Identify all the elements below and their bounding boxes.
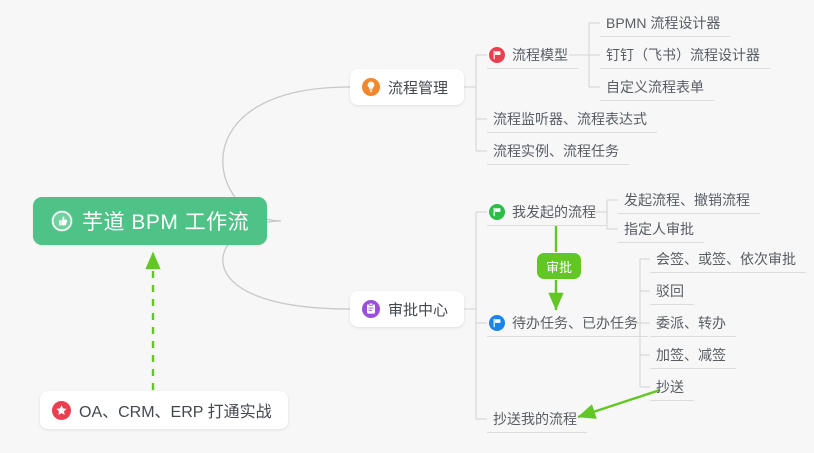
node-label: 钉钉（飞书）流程设计器	[606, 45, 760, 65]
node-label: 流程监听器、流程表达式	[493, 109, 647, 129]
node-label: OA、CRM、ERP 打通实战	[79, 398, 272, 422]
star-icon	[52, 401, 71, 420]
node-process-model[interactable]: 流程模型	[487, 41, 578, 69]
node-custom-process-form[interactable]: 自定义流程表单	[600, 73, 714, 101]
root-node[interactable]: 芋道 BPM 工作流	[33, 197, 267, 245]
node-countersign-or-sequential[interactable]: 会签、或签、依次审批	[650, 245, 806, 273]
node-delegate-transfer[interactable]: 委派、转办	[650, 309, 736, 337]
node-label: 驳回	[656, 281, 684, 301]
node-carbon-copy[interactable]: 抄送	[650, 373, 694, 401]
node-label: 发起流程、撤销流程	[624, 190, 750, 210]
node-label: 自定义流程表单	[606, 77, 704, 97]
node-label: 抄送我的流程	[493, 409, 577, 429]
node-assignee-approval[interactable]: 指定人审批	[618, 215, 704, 243]
node-label: 委派、转办	[656, 313, 726, 333]
node-label: 抄送	[656, 377, 684, 397]
flag-icon	[489, 204, 505, 220]
node-bpmn-designer[interactable]: BPMN 流程设计器	[600, 9, 730, 37]
annotation-badge-approval: 审批	[537, 253, 581, 279]
node-label: 我发起的流程	[512, 202, 596, 222]
flag-icon	[489, 47, 505, 63]
flag-icon	[489, 315, 505, 331]
node-start-cancel-process[interactable]: 发起流程、撤销流程	[618, 186, 760, 214]
node-oa-crm-erp[interactable]: OA、CRM、ERP 打通实战	[40, 391, 288, 429]
branch-process-management[interactable]: 流程管理	[350, 69, 464, 105]
node-cc-to-me-process[interactable]: 抄送我的流程	[487, 405, 587, 433]
thumbs-up-icon	[51, 210, 73, 232]
root-label: 芋道 BPM 工作流	[82, 206, 249, 236]
node-todo-done-tasks[interactable]: 待办任务、已办任务	[487, 309, 648, 337]
branch-label: 流程管理	[388, 77, 448, 98]
node-my-initiated-process[interactable]: 我发起的流程	[487, 198, 606, 226]
node-label: 待办任务、已办任务	[512, 313, 638, 333]
annotation-badge-label: 审批	[546, 257, 572, 276]
node-dingtalk-feishu-designer[interactable]: 钉钉（飞书）流程设计器	[600, 41, 770, 69]
node-label: 加签、减签	[656, 345, 726, 365]
node-label: 流程模型	[512, 45, 568, 65]
branch-approval-center[interactable]: 审批中心	[350, 291, 464, 327]
branch-label: 审批中心	[388, 299, 448, 320]
node-label: 指定人审批	[624, 219, 694, 239]
node-label: 流程实例、流程任务	[493, 141, 619, 161]
node-add-remove-sign[interactable]: 加签、减签	[650, 341, 736, 369]
clipboard-icon	[362, 300, 380, 318]
node-label: 会签、或签、依次审批	[656, 249, 796, 269]
lightbulb-icon	[362, 78, 380, 96]
node-label: BPMN 流程设计器	[606, 13, 720, 33]
node-process-instance-task[interactable]: 流程实例、流程任务	[487, 137, 629, 165]
node-reject[interactable]: 驳回	[650, 277, 694, 305]
mindmap-canvas: 芋道 BPM 工作流 流程管理 流程模型 BPMN 流程设计器 钉钉（飞书）流程	[0, 0, 814, 453]
node-process-listener-expression[interactable]: 流程监听器、流程表达式	[487, 105, 657, 133]
